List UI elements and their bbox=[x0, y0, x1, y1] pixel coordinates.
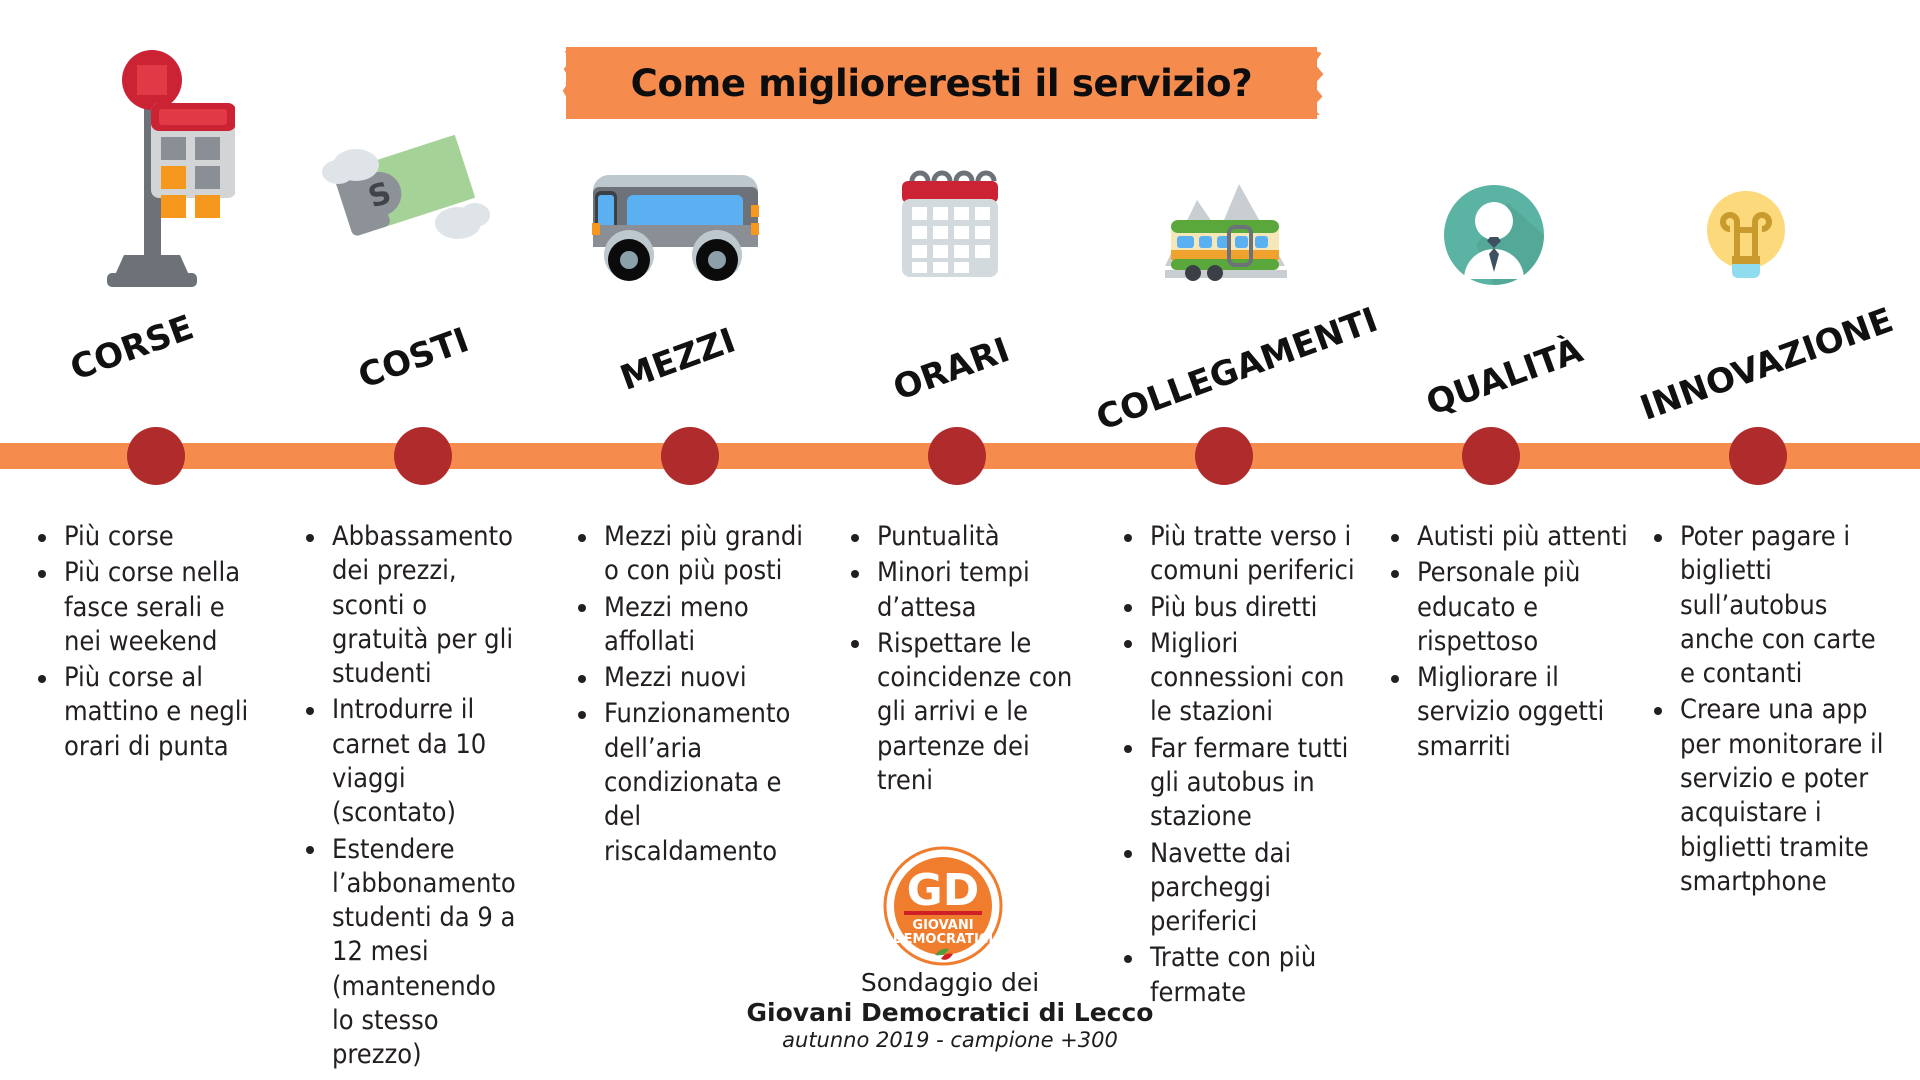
list-item-label: Puntualità bbox=[877, 521, 1000, 552]
bullet-dot-icon bbox=[1124, 534, 1132, 542]
list-item-label: Mezzi nuovi bbox=[604, 662, 747, 693]
list-item: Abbassamento dei prezzi, sconti o gratui… bbox=[332, 520, 525, 691]
svg-text:DEMOCRATICI: DEMOCRATICI bbox=[893, 932, 993, 947]
bullet-dot-icon bbox=[1391, 675, 1399, 683]
list-item: Migliori connessioni con le stazioni bbox=[1150, 627, 1358, 730]
bullet-column-costi: Abbassamento dei prezzi, sconti o gratui… bbox=[300, 520, 525, 1075]
money-banknote-icon: S bbox=[320, 125, 490, 260]
bullet-list-innovazione: Poter pagare i biglietti sull’autobus an… bbox=[1648, 520, 1893, 899]
timeline-node-costi bbox=[394, 427, 452, 485]
list-item: Estendere l’abbonamento studenti da 9 a … bbox=[332, 833, 525, 1073]
lightbulb-icon bbox=[1694, 178, 1798, 290]
list-item: Più corse bbox=[64, 520, 262, 554]
list-item-label: Migliori connessioni con le stazioni bbox=[1150, 628, 1344, 728]
bullet-dot-icon bbox=[1124, 640, 1132, 648]
list-item-label: Minori tempi d’attesa bbox=[877, 557, 1030, 622]
bullet-dot-icon bbox=[306, 846, 314, 854]
gd-logo: GD GIOVANI DEMOCRATICI bbox=[882, 845, 1004, 967]
bullet-dot-icon bbox=[1391, 534, 1399, 542]
list-item: Introdurre il carnet da 10 viaggi (scont… bbox=[332, 693, 525, 830]
list-item-label: Mezzi meno affollati bbox=[604, 592, 749, 657]
bullet-dot-icon bbox=[1124, 745, 1132, 753]
list-item-label: Più corse bbox=[64, 521, 174, 552]
bus-icon bbox=[585, 165, 765, 285]
bullet-dot-icon bbox=[306, 534, 314, 542]
footer-line-3: autunno 2019 - campione +300 bbox=[700, 1027, 1200, 1053]
category-label-mezzi: MEZZI bbox=[615, 320, 741, 398]
svg-text:GIOVANI: GIOVANI bbox=[912, 918, 973, 933]
bullet-dot-icon bbox=[851, 534, 859, 542]
list-item-label: Più bus diretti bbox=[1150, 592, 1317, 623]
bullet-dot-icon bbox=[851, 640, 859, 648]
bullet-dot-icon bbox=[38, 534, 46, 542]
timeline-node-mezzi bbox=[661, 427, 719, 485]
bullet-list-qualita: Autisti più attentiPersonale più educato… bbox=[1385, 520, 1630, 764]
bullet-dot-icon bbox=[578, 675, 586, 683]
category-label-qualita: QUALITÀ bbox=[1421, 330, 1588, 423]
list-item: Più bus diretti bbox=[1150, 591, 1358, 625]
list-item: Autisti più attenti bbox=[1417, 520, 1630, 554]
list-item: Poter pagare i biglietti sull’autobus an… bbox=[1680, 520, 1893, 691]
bullet-dot-icon bbox=[1391, 570, 1399, 578]
list-item: Più tratte verso i comuni periferici bbox=[1150, 520, 1358, 589]
list-item: Più corse al mattino e negli orari di pu… bbox=[64, 661, 262, 764]
bullet-dot-icon bbox=[578, 604, 586, 612]
bullet-list-corse: Più corsePiù corse nella fasce serali e … bbox=[32, 520, 262, 764]
category-label-collegamenti: COLLEGAMENTI bbox=[1091, 300, 1383, 439]
category-label-orari: ORARI bbox=[888, 330, 1015, 409]
bullet-dot-icon bbox=[851, 570, 859, 578]
timeline-node-corse bbox=[127, 427, 185, 485]
list-item-label: Più corse al mattino e negli orari di pu… bbox=[64, 662, 248, 762]
bullet-column-collegamenti: Più tratte verso i comuni perifericiPiù … bbox=[1118, 520, 1358, 1012]
list-item-label: Funzionamento dell’aria condizionata e d… bbox=[604, 698, 790, 866]
bullet-column-innovazione: Poter pagare i biglietti sull’autobus an… bbox=[1648, 520, 1893, 901]
calendar-icon bbox=[890, 165, 1010, 290]
list-item-label: Introdurre il carnet da 10 viaggi (scont… bbox=[332, 694, 486, 828]
bullet-dot-icon bbox=[306, 707, 314, 715]
list-item-label: Abbassamento dei prezzi, sconti o gratui… bbox=[332, 521, 513, 689]
list-item: Creare una app per monitorare il servizi… bbox=[1680, 693, 1893, 899]
list-item-label: Navette dai parcheggi periferici bbox=[1150, 838, 1291, 938]
list-item-label: Rispettare le coincidenze con gli arrivi… bbox=[877, 628, 1072, 796]
list-item-label: Migliorare il servizio oggetti smarriti bbox=[1417, 662, 1604, 762]
category-label-corse: CORSE bbox=[65, 308, 199, 389]
list-item: Funzionamento dell’aria condizionata e d… bbox=[604, 697, 812, 868]
list-item-label: Poter pagare i biglietti sull’autobus an… bbox=[1680, 521, 1876, 689]
list-item-label: Mezzi più grandi o con più posti bbox=[604, 521, 803, 586]
footer-credits: Sondaggio dei Giovani Democratici di Lec… bbox=[700, 968, 1200, 1053]
list-item-label: Personale più educato e rispettoso bbox=[1417, 557, 1580, 657]
list-item-label: Più tratte verso i comuni periferici bbox=[1150, 521, 1355, 586]
train-mountain-icon bbox=[1163, 178, 1288, 290]
footer-line-1: Sondaggio dei bbox=[700, 968, 1200, 998]
infographic-canvas: Come miglioreresti il servizio? bbox=[0, 0, 1920, 1080]
list-item-label: Autisti più attenti bbox=[1417, 521, 1628, 552]
bullet-list-costi: Abbassamento dei prezzi, sconti o gratui… bbox=[300, 520, 525, 1073]
list-item: Minori tempi d’attesa bbox=[877, 556, 1080, 625]
bullet-column-mezzi: Mezzi più grandi o con più postiMezzi me… bbox=[572, 520, 812, 871]
list-item: Mezzi meno affollati bbox=[604, 591, 812, 660]
bullet-column-qualita: Autisti più attentiPersonale più educato… bbox=[1385, 520, 1630, 766]
bullet-column-corse: Più corsePiù corse nella fasce serali e … bbox=[32, 520, 262, 766]
category-label-costi: COSTI bbox=[353, 320, 474, 397]
page-title: Come miglioreresti il servizio? bbox=[566, 47, 1317, 119]
bullet-dot-icon bbox=[1124, 604, 1132, 612]
timeline-node-qualita bbox=[1462, 427, 1520, 485]
list-item: Mezzi più grandi o con più posti bbox=[604, 520, 812, 589]
bullet-dot-icon bbox=[1654, 534, 1662, 542]
list-item-label: Creare una app per monitorare il servizi… bbox=[1680, 694, 1884, 896]
bullet-list-orari: PuntualitàMinori tempi d’attesaRispettar… bbox=[845, 520, 1080, 798]
list-item: Navette dai parcheggi periferici bbox=[1150, 837, 1358, 940]
timeline-node-innovazione bbox=[1729, 427, 1787, 485]
timeline-node-collegamenti bbox=[1195, 427, 1253, 485]
list-item-label: Far fermare tutti gli autobus in stazion… bbox=[1150, 733, 1348, 833]
person-avatar-icon bbox=[1442, 183, 1546, 287]
bullet-dot-icon bbox=[1654, 707, 1662, 715]
list-item: Puntualità bbox=[877, 520, 1080, 554]
category-label-innovazione: INNOVAZIONE bbox=[1635, 300, 1898, 428]
bullet-list-collegamenti: Più tratte verso i comuni perifericiPiù … bbox=[1118, 520, 1358, 1010]
svg-text:GD: GD bbox=[907, 865, 980, 916]
bus-stop-sign-icon bbox=[85, 45, 235, 290]
list-item: Più corse nella fasce serali e nei weeke… bbox=[64, 556, 262, 659]
list-item-label: Estendere l’abbonamento studenti da 9 a … bbox=[332, 834, 516, 1071]
footer-line-2: Giovani Democratici di Lecco bbox=[700, 998, 1200, 1028]
bullet-dot-icon bbox=[578, 711, 586, 719]
bullet-dot-icon bbox=[1124, 850, 1132, 858]
bullet-list-mezzi: Mezzi più grandi o con più postiMezzi me… bbox=[572, 520, 812, 869]
timeline-node-orari bbox=[928, 427, 986, 485]
list-item: Personale più educato e rispettoso bbox=[1417, 556, 1630, 659]
list-item-label: Più corse nella fasce serali e nei weeke… bbox=[64, 557, 240, 657]
bullet-dot-icon bbox=[38, 675, 46, 683]
list-item: Mezzi nuovi bbox=[604, 661, 812, 695]
bullet-dot-icon bbox=[38, 570, 46, 578]
list-item: Rispettare le coincidenze con gli arrivi… bbox=[877, 627, 1080, 798]
bullet-dot-icon bbox=[1124, 955, 1132, 963]
bullet-column-orari: PuntualitàMinori tempi d’attesaRispettar… bbox=[845, 520, 1080, 800]
list-item: Far fermare tutti gli autobus in stazion… bbox=[1150, 732, 1358, 835]
bullet-dot-icon bbox=[578, 534, 586, 542]
list-item: Migliorare il servizio oggetti smarriti bbox=[1417, 661, 1630, 764]
